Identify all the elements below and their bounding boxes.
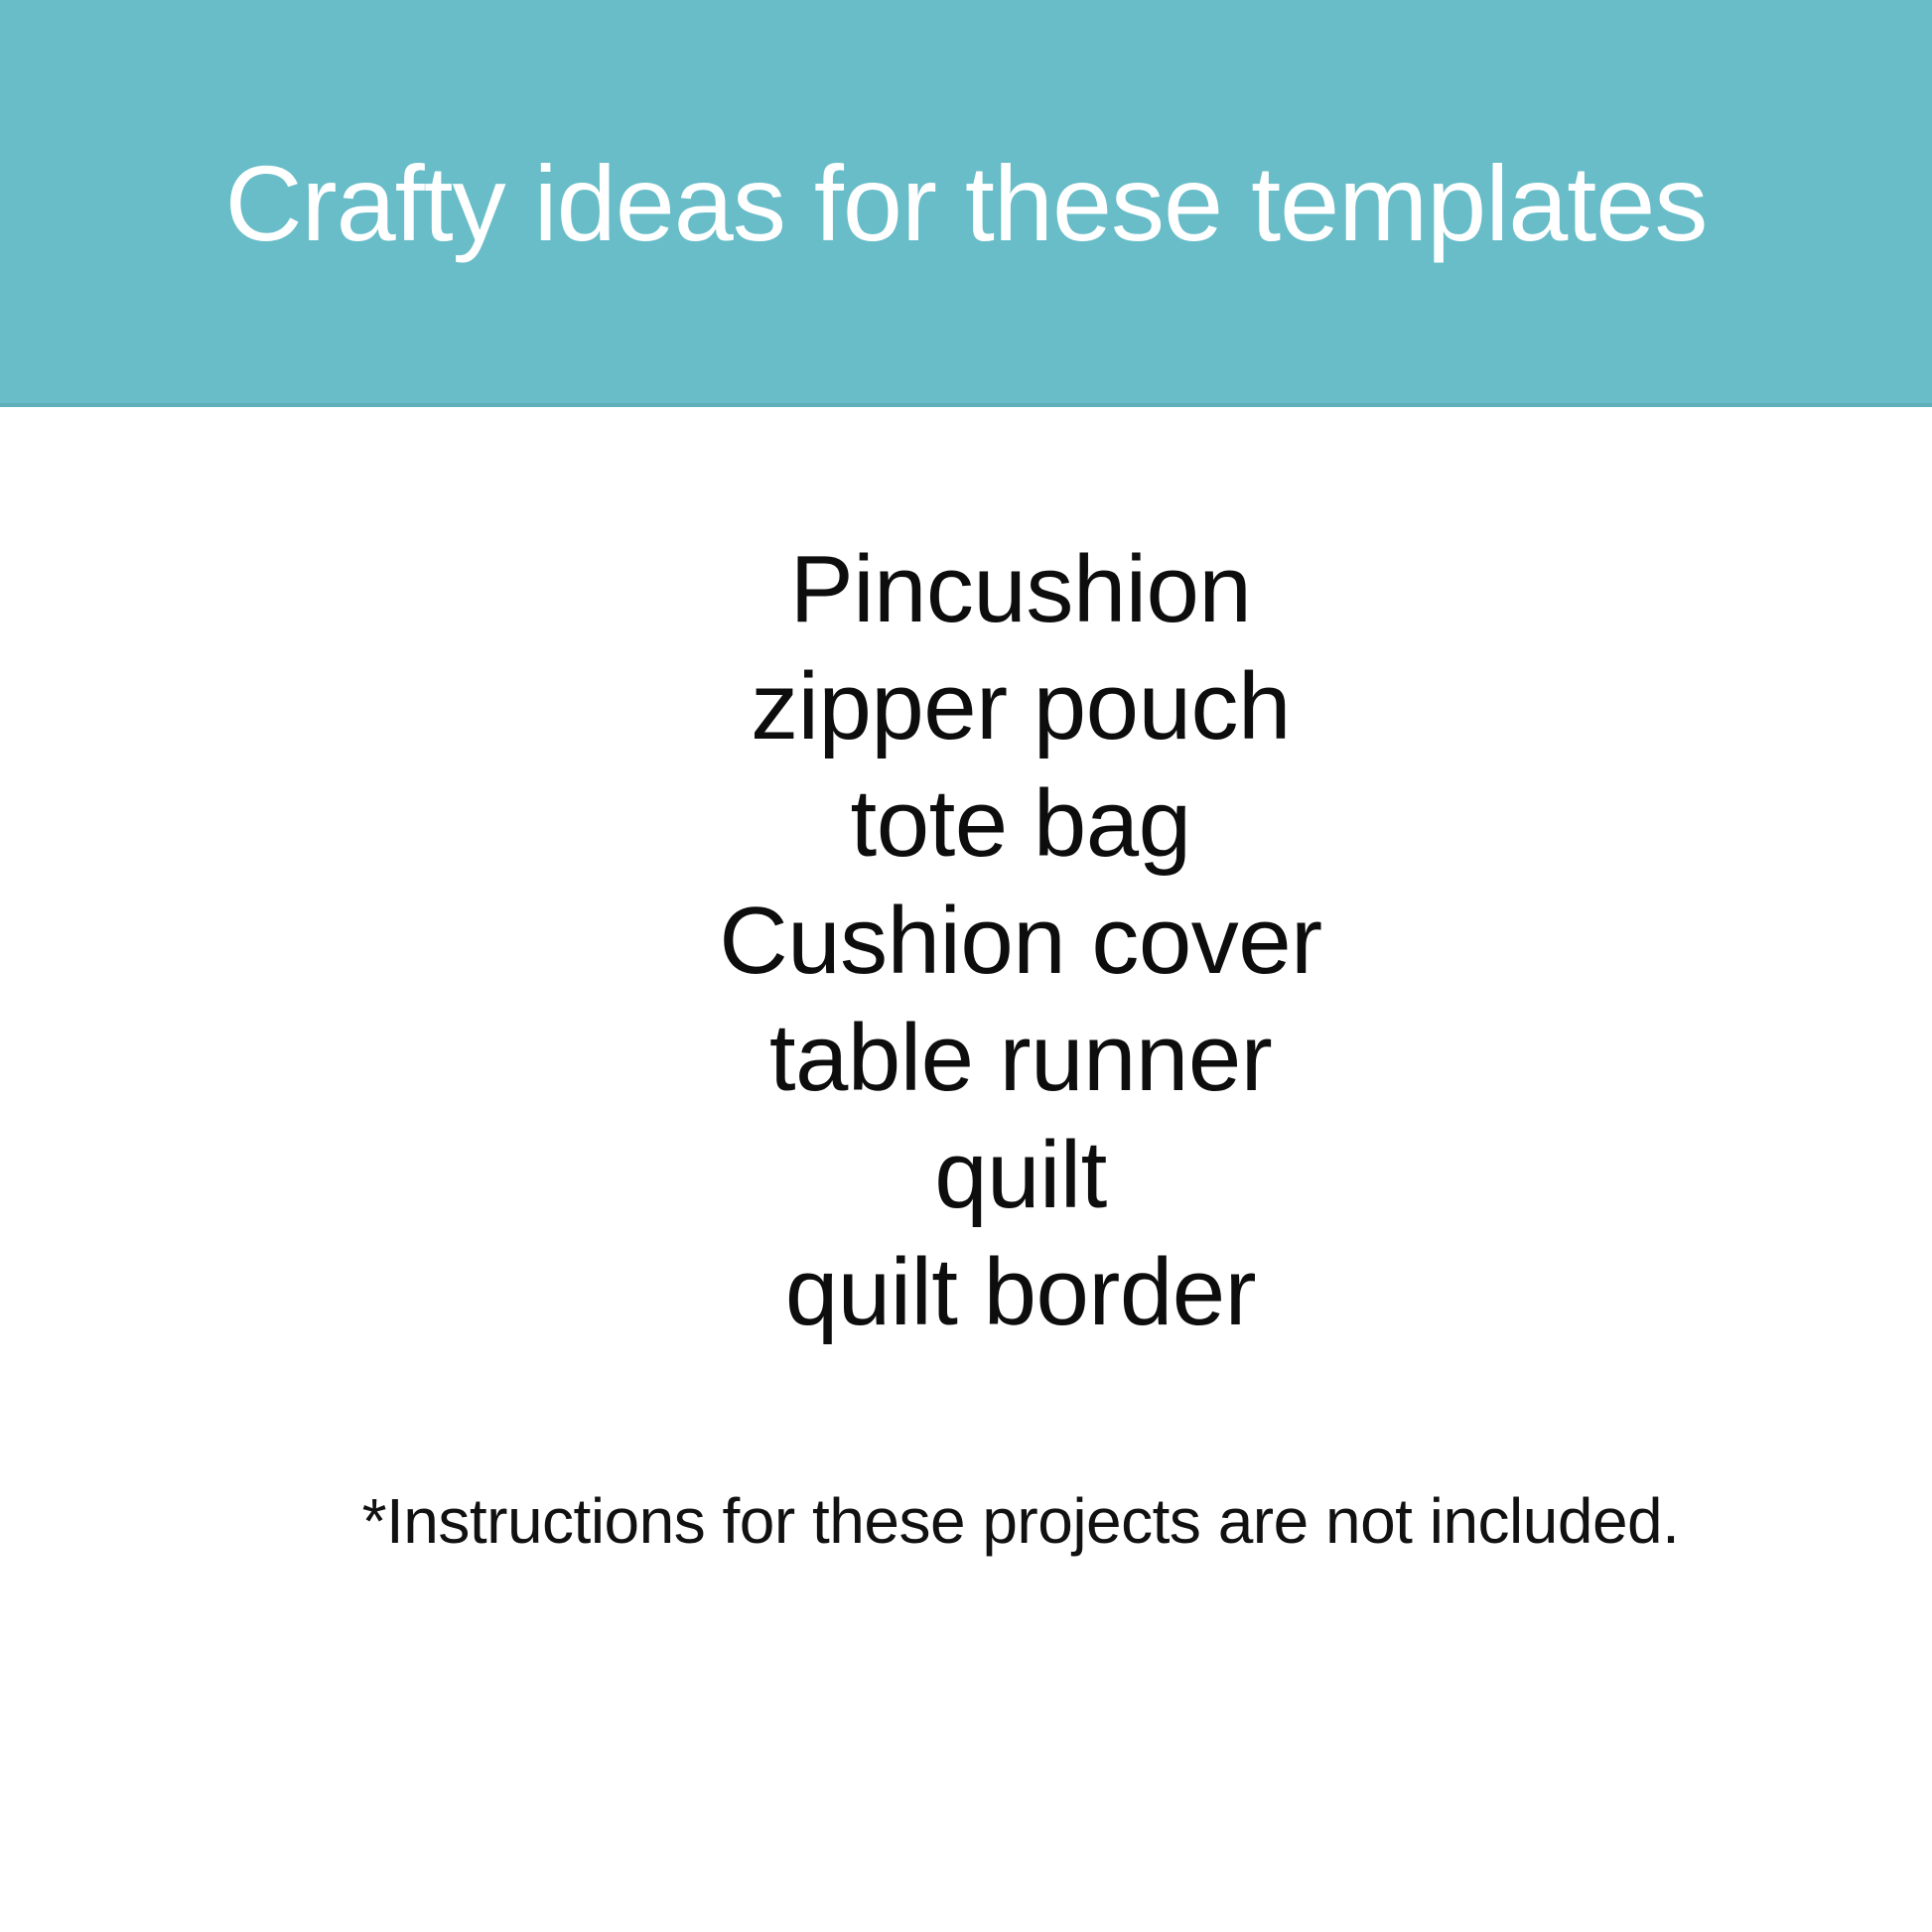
content-block: Pincushion zipper pouch tote bag Cushion… (109, 407, 1932, 1556)
header-banner: Crafty ideas for these templates (0, 0, 1932, 407)
crafty-ideas-list: Pincushion zipper pouch tote bag Cushion… (109, 407, 1932, 1351)
main-content-area: Pincushion zipper pouch tote bag Cushion… (0, 407, 1932, 1932)
list-item: quilt (109, 1117, 1932, 1234)
list-item: Cushion cover (109, 883, 1932, 1000)
page-root: Crafty ideas for these templates Pincush… (0, 0, 1932, 1932)
page-title: Crafty ideas for these templates (0, 0, 1932, 407)
list-item: tote bag (109, 765, 1932, 883)
footnote-disclaimer: *Instructions for these projects are not… (109, 1486, 1932, 1556)
list-item: Pincushion (109, 531, 1932, 648)
list-item: quilt border (109, 1234, 1932, 1351)
list-item: table runner (109, 1000, 1932, 1117)
list-item: zipper pouch (109, 648, 1932, 765)
